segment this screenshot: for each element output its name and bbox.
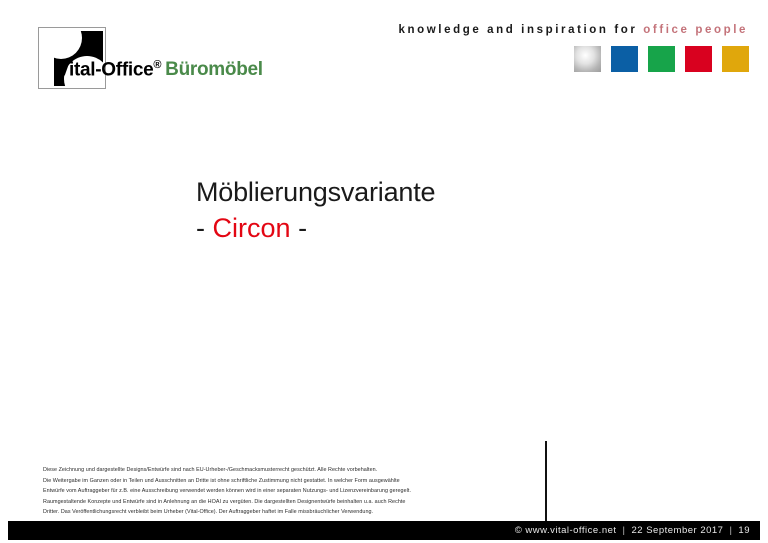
page-title: Möblierungsvariante — [196, 176, 435, 210]
legal-line: Raumgestaltende Konzepte und Entwürfe si… — [43, 497, 543, 508]
brand-color-swatches — [574, 46, 749, 72]
legal-line: Dritter. Das Veröffentlichungsrecht verb… — [43, 507, 543, 518]
subtitle-dash-left: - — [196, 213, 205, 243]
swatch-blue — [611, 46, 638, 72]
footer-date: 22 September 2017 — [632, 525, 724, 536]
footer-website-link[interactable]: www.vital-office.net — [525, 525, 616, 536]
footer-separator-2: | — [729, 525, 732, 536]
footer-bar: ©www.vital-office.net|22 September 2017|… — [8, 521, 760, 540]
legal-line: Entwürfe vom Auftraggeber für z.B. eine … — [43, 486, 543, 497]
tagline-lead-text: knowledge and inspiration for — [399, 24, 644, 36]
subtitle-product-name: Circon — [213, 213, 291, 243]
legal-line: Die Weitergabe im Ganzen oder in Teilen … — [43, 476, 543, 487]
vertical-divider — [545, 441, 547, 523]
logo-stem — [42, 47, 54, 86]
registered-trademark-icon: ® — [153, 59, 161, 71]
brand-secondary-text: Büromöbel — [165, 59, 263, 80]
footer-meta: ©www.vital-office.net|22 September 2017|… — [515, 521, 750, 540]
legal-disclaimer: Diese Zeichnung und dargestellte Designs… — [43, 465, 543, 518]
copyright-icon: © — [515, 525, 523, 536]
page-subtitle: - Circon - — [196, 212, 435, 246]
logo-wordmark: Vital-Office®Büromöbel — [57, 60, 263, 79]
swatch-green — [648, 46, 675, 72]
slide-title-block: Möblierungsvariante - Circon - — [196, 176, 435, 246]
brand-primary-text: Vital-Office — [57, 59, 153, 80]
swatch-yellow — [722, 46, 749, 72]
footer-page-number: 19 — [738, 525, 750, 536]
swatch-red — [685, 46, 712, 72]
tagline-accent-text: office people — [643, 24, 748, 36]
swatch-silver — [574, 46, 601, 72]
footer-separator-1: | — [623, 525, 626, 536]
header-tagline: knowledge and inspiration for office peo… — [399, 24, 749, 36]
slide-page: Vital-Office®Büromöbel knowledge and ins… — [0, 0, 768, 543]
legal-line: Diese Zeichnung und dargestellte Designs… — [43, 465, 543, 476]
subtitle-dash-right: - — [298, 213, 307, 243]
